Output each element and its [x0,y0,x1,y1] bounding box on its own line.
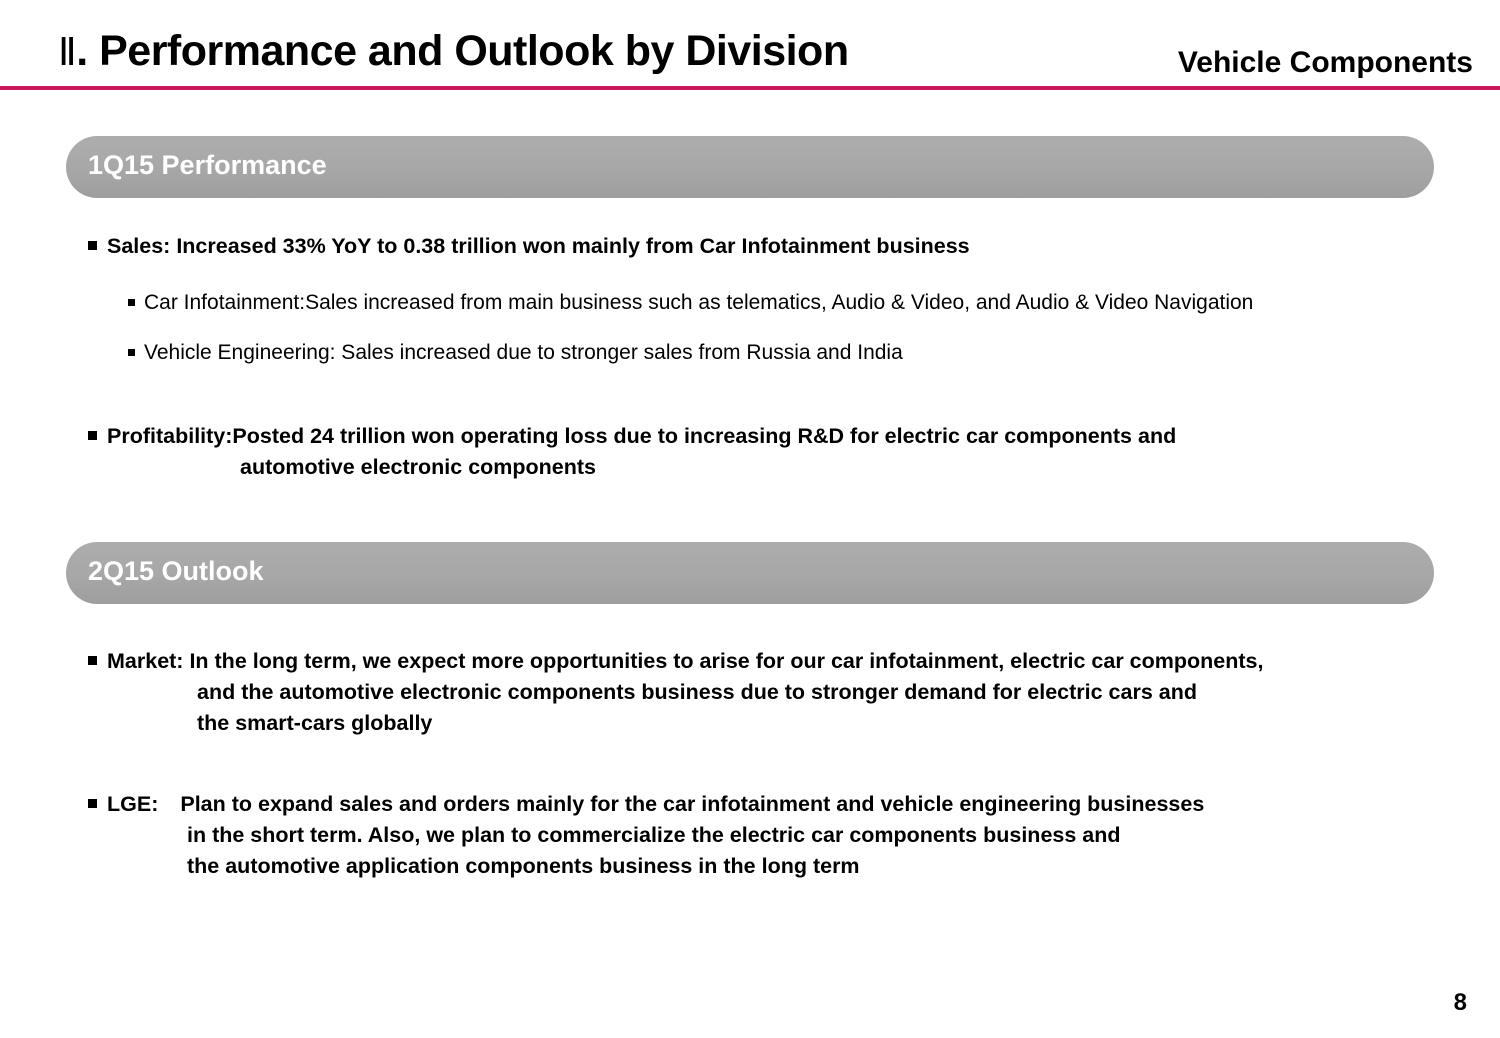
bullet-market-line-2: and the automotive electronic components… [88,677,1263,708]
bullet-market-line-1: Market: In the long term, we expect more… [107,649,1263,673]
bullet-car-infotainment-text: Car Infotainment:Sales increased from ma… [144,291,1253,314]
page-title: Ⅱ. Performance and Outlook by Division [58,30,849,73]
bullet-sales-text: Sales: Increased 33% YoY to 0.38 trillio… [107,234,970,258]
bullet-lge-line-1: Plan to expand sales and orders mainly f… [180,792,1204,816]
bullet-square-icon [88,799,97,808]
bullet-profitability-line-2: automotive electronic components [88,452,1176,483]
bullet-square-icon [88,431,97,440]
bullet-square-icon [128,299,135,306]
slide-header: Ⅱ. Performance and Outlook by Division V… [0,0,1500,90]
header-divider [0,86,1500,90]
section-numeral: Ⅱ [58,30,76,74]
bullet-market-line-3: the smart-cars globally [88,708,1263,739]
bullet-sales: Sales: Increased 33% YoY to 0.38 trillio… [88,231,970,262]
bullet-square-icon [128,349,135,356]
bullet-profitability: Profitability:Posted 24 trillion won ope… [88,421,1176,483]
bullet-lge: LGE:Plan to expand sales and orders main… [88,789,1204,882]
section-banner-outlook: 2Q15 Outlook [66,542,1434,604]
section-banner-outlook-label: 2Q15 Outlook [88,555,264,587]
division-label: Vehicle Components [1178,48,1473,78]
bullet-square-icon [88,241,97,250]
bullet-car-infotainment: Car Infotainment:Sales increased from ma… [128,288,1253,318]
bullet-square-icon [88,656,97,665]
bullet-lge-label: LGE: [107,792,158,816]
section-banner-performance: 1Q15 Performance [66,136,1434,198]
bullet-lge-line-3: the automotive application components bu… [88,851,1204,882]
bullet-vehicle-engineering-text: Vehicle Engineering: Sales increased due… [144,341,903,364]
page-number: 8 [1454,991,1467,1015]
bullet-vehicle-engineering: Vehicle Engineering: Sales increased due… [128,338,903,368]
bullet-lge-line-2: in the short term. Also, we plan to comm… [88,820,1204,851]
page-title-text: . Performance and Outlook by Division [76,27,848,75]
bullet-market: Market: In the long term, we expect more… [88,646,1263,739]
section-banner-performance-label: 1Q15 Performance [88,149,327,181]
bullet-profitability-line-1: Profitability:Posted 24 trillion won ope… [107,424,1176,448]
